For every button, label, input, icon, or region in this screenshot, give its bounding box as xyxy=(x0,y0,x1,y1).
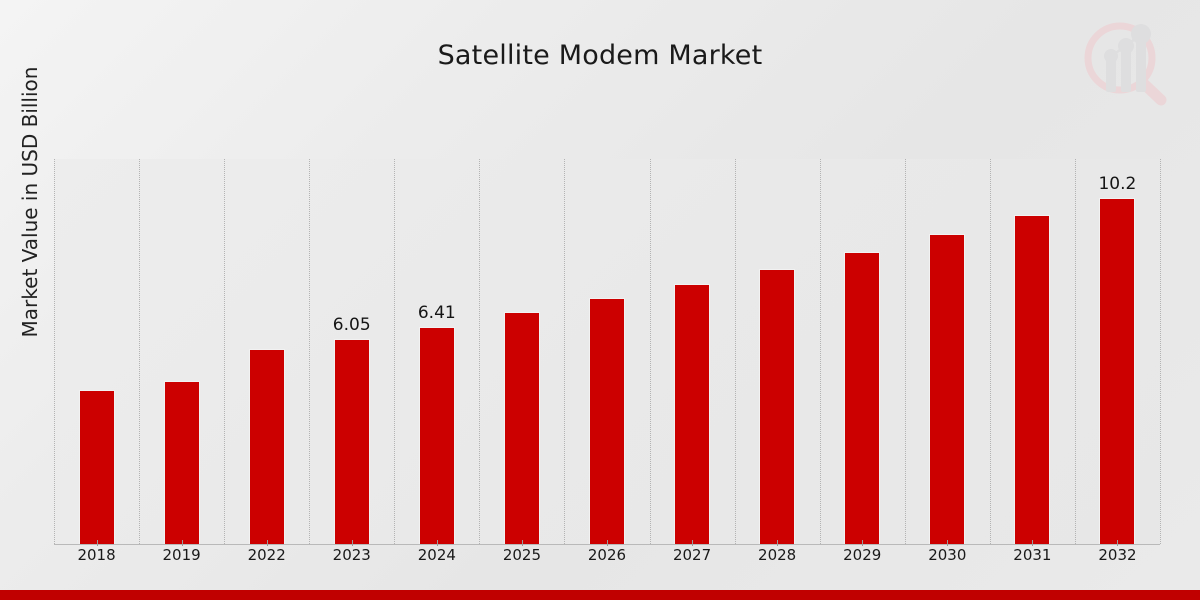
bar-2018[interactable] xyxy=(79,390,115,544)
bar-2023[interactable] xyxy=(334,339,370,544)
bar-2031[interactable] xyxy=(1014,215,1050,544)
bar-group: 10.2 xyxy=(1075,159,1160,544)
x-tick-label-2023: 2023 xyxy=(309,546,394,564)
bar-value-label-2023: 6.05 xyxy=(333,315,371,335)
x-tick-mark xyxy=(1117,540,1118,546)
bar-group: 6.41 xyxy=(394,159,479,544)
x-tick-label-2028: 2028 xyxy=(735,546,820,564)
bar-group xyxy=(479,159,564,544)
x-tick-mark xyxy=(352,540,353,546)
bar-2029[interactable] xyxy=(844,252,880,544)
x-tick-label-2031: 2031 xyxy=(990,546,1075,564)
bar-2028[interactable] xyxy=(759,269,795,544)
bar-group xyxy=(820,159,905,544)
x-tick-mark xyxy=(97,540,98,546)
x-axis: 2018201920222023202420252026202720282029… xyxy=(54,546,1160,572)
bar-2026[interactable] xyxy=(589,298,625,544)
page-title: Satellite Modem Market xyxy=(0,40,1200,71)
bar-group xyxy=(54,159,139,544)
x-tick-label-2027: 2027 xyxy=(650,546,735,564)
chart-page: Satellite Modem Market Market Value in U… xyxy=(0,0,1200,600)
plot-area: 6.056.4110.2 xyxy=(54,159,1160,545)
gridline xyxy=(1160,159,1162,544)
bar-2027[interactable] xyxy=(674,284,710,545)
footer-accent-band xyxy=(0,590,1200,600)
bar-2024[interactable] xyxy=(419,327,455,544)
x-tick-label-2026: 2026 xyxy=(564,546,649,564)
x-tick-label-2029: 2029 xyxy=(820,546,905,564)
x-tick-label-2032: 2032 xyxy=(1075,546,1160,564)
bar-value-label-2032: 10.2 xyxy=(1098,174,1136,194)
x-tick-label-2019: 2019 xyxy=(139,546,224,564)
x-tick-mark xyxy=(182,540,183,546)
x-tick-mark xyxy=(607,540,608,546)
y-axis-title: Market Value in USD Billion xyxy=(18,12,42,392)
bar-2032[interactable] xyxy=(1099,198,1135,544)
bar-2022[interactable] xyxy=(249,349,285,544)
bar-group xyxy=(224,159,309,544)
bar-2019[interactable] xyxy=(164,381,200,544)
bar-group xyxy=(650,159,735,544)
x-tick-mark xyxy=(692,540,693,546)
x-tick-label-2022: 2022 xyxy=(224,546,309,564)
x-tick-mark xyxy=(437,540,438,546)
bar-group xyxy=(905,159,990,544)
bar-group xyxy=(564,159,649,544)
bar-2030[interactable] xyxy=(929,234,965,544)
bar-group xyxy=(990,159,1075,544)
x-tick-mark xyxy=(777,540,778,546)
x-tick-label-2030: 2030 xyxy=(905,546,990,564)
bar-group xyxy=(139,159,224,544)
bar-2025[interactable] xyxy=(504,312,540,544)
bar-value-label-2024: 6.41 xyxy=(418,303,456,323)
x-tick-mark xyxy=(1032,540,1033,546)
bar-group: 6.05 xyxy=(309,159,394,544)
x-tick-mark xyxy=(947,540,948,546)
x-tick-mark xyxy=(862,540,863,546)
bar-group xyxy=(735,159,820,544)
x-tick-mark xyxy=(522,540,523,546)
x-tick-mark xyxy=(267,540,268,546)
x-tick-label-2018: 2018 xyxy=(54,546,139,564)
x-tick-label-2025: 2025 xyxy=(479,546,564,564)
x-tick-label-2024: 2024 xyxy=(394,546,479,564)
